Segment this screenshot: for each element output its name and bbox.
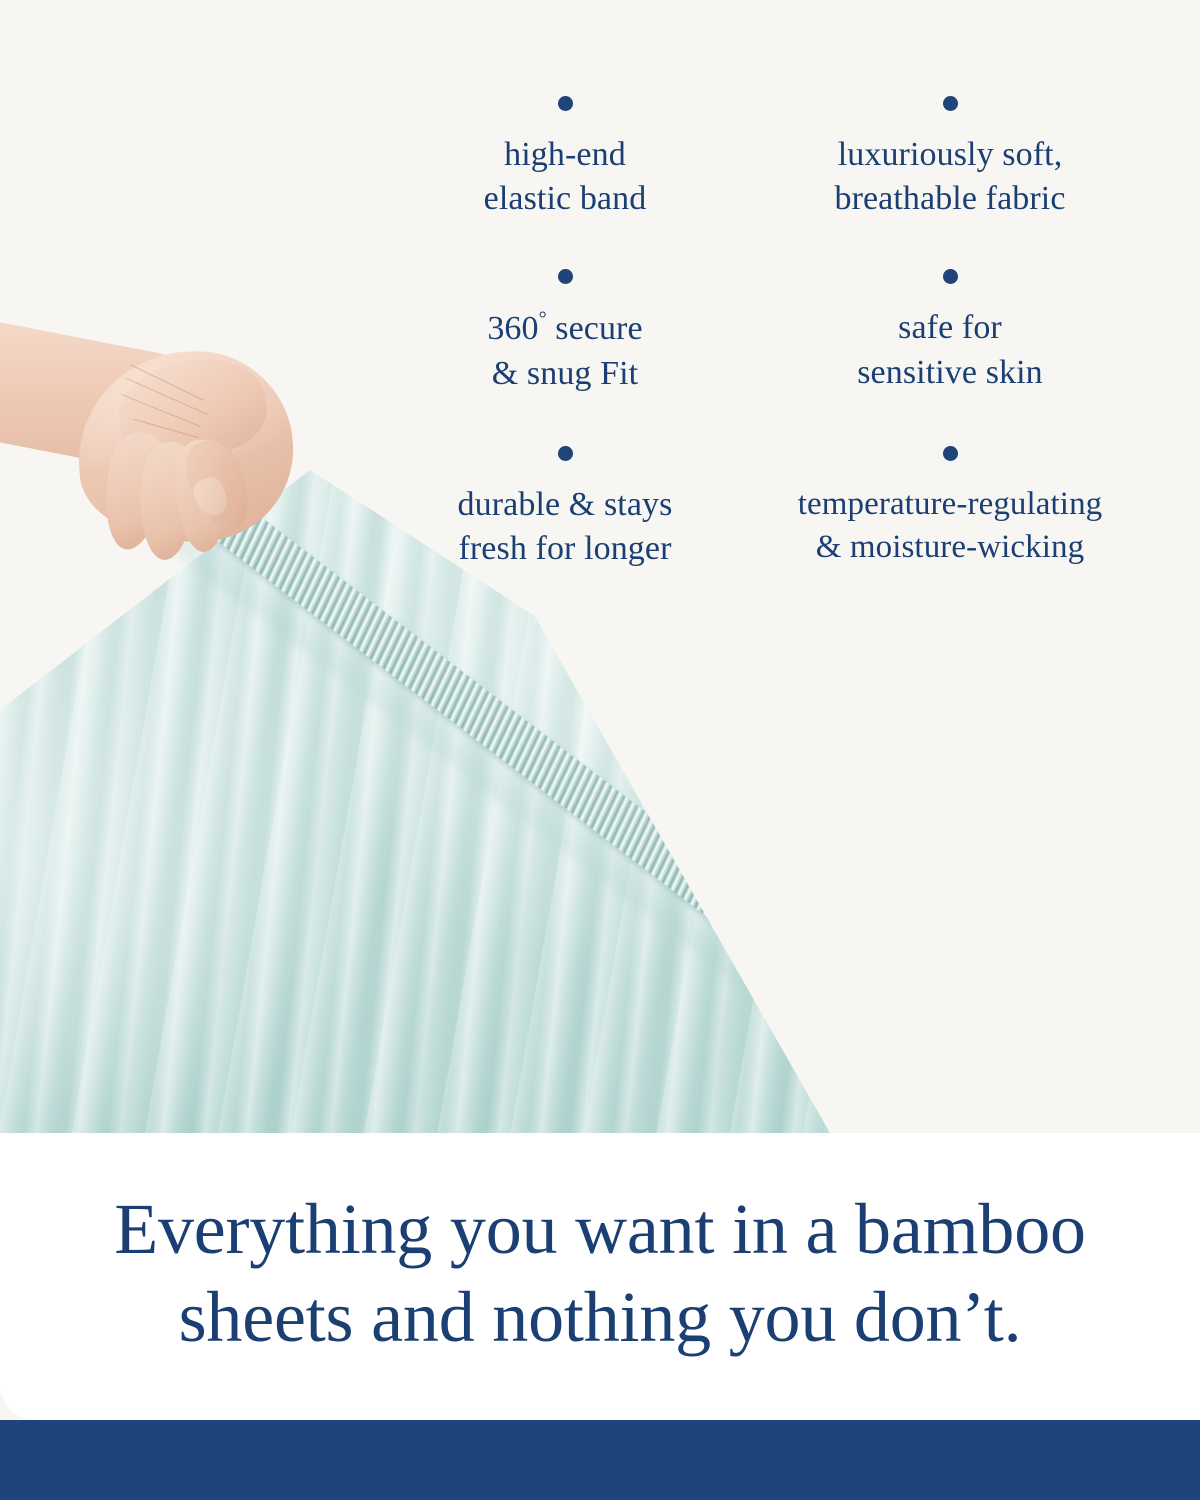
- feature-label-prefix: 360: [487, 310, 538, 347]
- degree-symbol-icon: °: [539, 308, 547, 330]
- bullet-dot-icon: [943, 446, 958, 461]
- feature-safe-for-sensitive-skin: safe for sensitive skin: [730, 269, 1170, 395]
- feature-durable-stays-fresh-for-longer: durable & stays fresh for longer: [400, 446, 730, 571]
- product-feature-banner: high-end elastic band luxuriously soft, …: [0, 0, 1200, 1500]
- feature-luxuriously-soft-breathable-fabric: luxuriously soft, breathable fabric: [730, 96, 1170, 221]
- feature-row-1: high-end elastic band luxuriously soft, …: [400, 96, 1190, 221]
- feature-label: safe for sensitive skin: [736, 306, 1164, 394]
- bullet-dot-icon: [558, 269, 573, 284]
- bullet-dot-icon: [943, 269, 958, 284]
- feature-label: durable & stays fresh for longer: [406, 483, 724, 571]
- bullet-dot-icon: [558, 446, 573, 461]
- footer-bar: [0, 1420, 1200, 1500]
- feature-label: temperature-regulating & moisture-wickin…: [736, 483, 1164, 569]
- feature-temperature-regulating-moisture-wicking: temperature-regulating & moisture-wickin…: [730, 446, 1170, 571]
- headline-text: Everything you want in a bamboo sheets a…: [0, 1186, 1200, 1362]
- feature-label: luxuriously soft, breathable fabric: [736, 133, 1164, 221]
- feature-row-3: durable & stays fresh for longer tempera…: [400, 446, 1190, 571]
- feature-label: 360° secure & snug Fit: [406, 306, 724, 395]
- bullet-dot-icon: [558, 96, 573, 111]
- feature-row-2: 360° secure & snug Fit safe for sensitiv…: [400, 269, 1190, 395]
- feature-360-secure-snug-fit: 360° secure & snug Fit: [400, 269, 730, 395]
- feature-label: high-end elastic band: [406, 133, 724, 221]
- bullet-dot-icon: [943, 96, 958, 111]
- feature-list: high-end elastic band luxuriously soft, …: [400, 96, 1190, 571]
- feature-high-end-elastic-band: high-end elastic band: [400, 96, 730, 221]
